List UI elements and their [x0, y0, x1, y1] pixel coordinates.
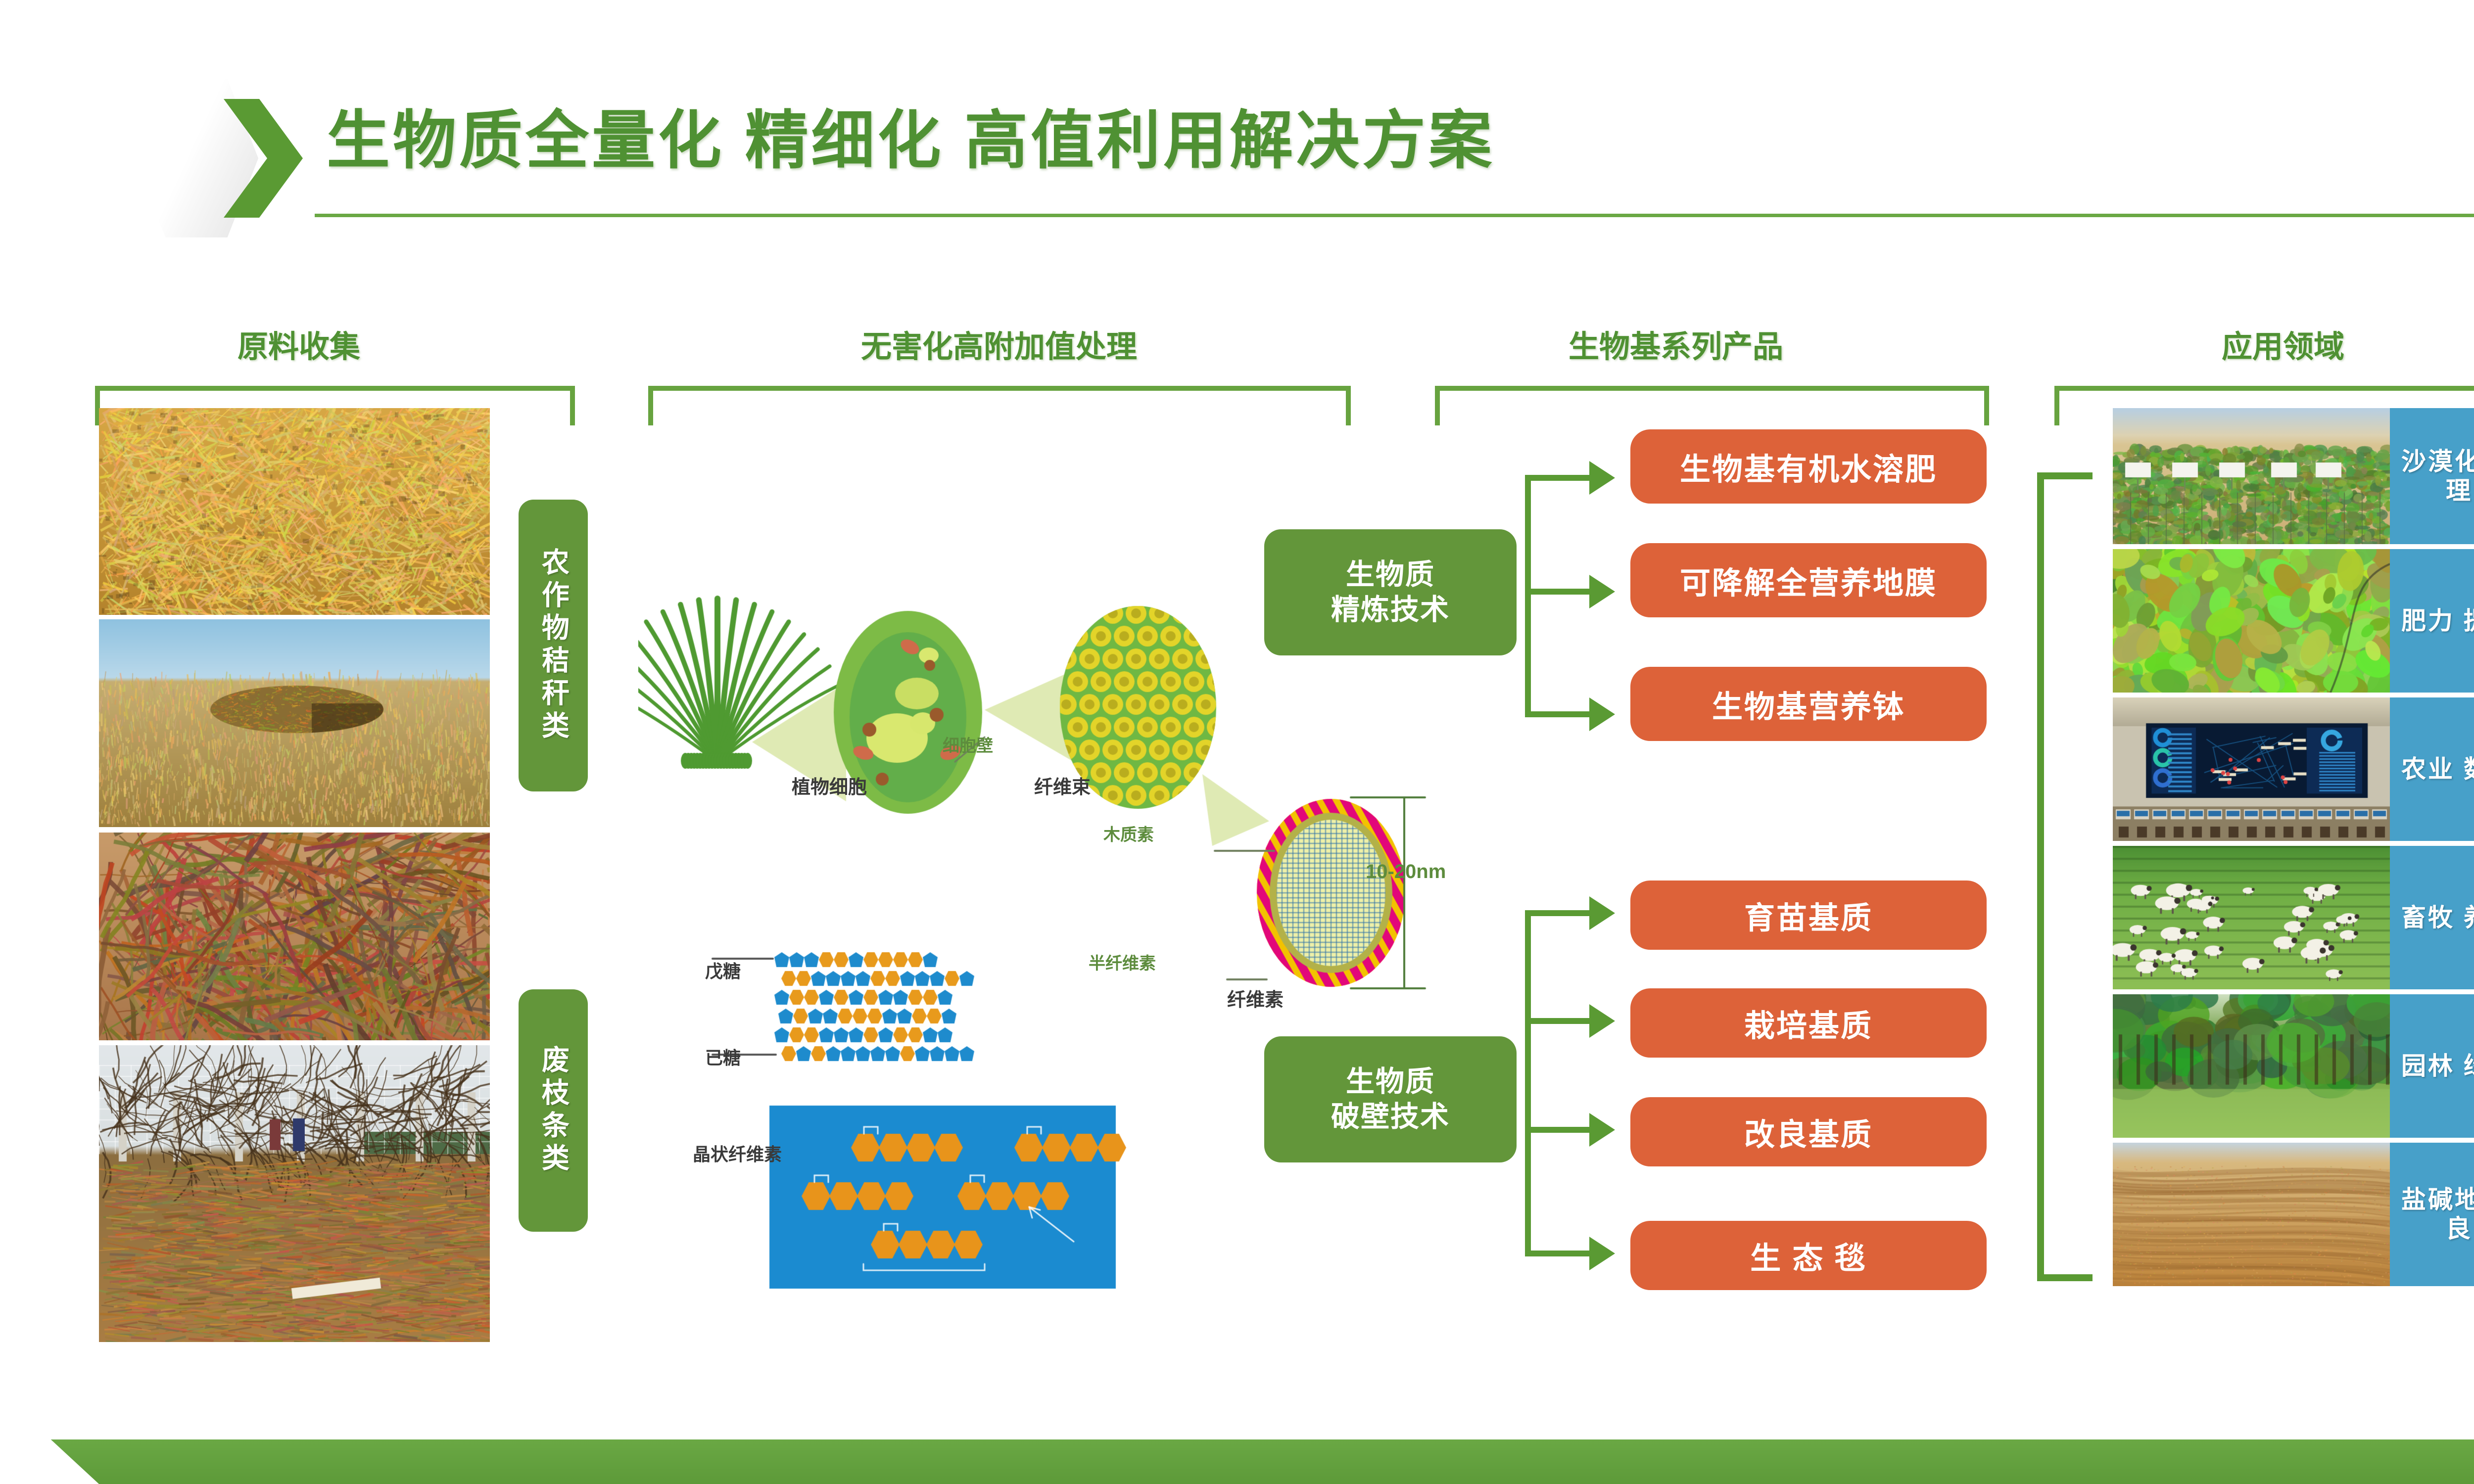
- label-fiber-scale: 10-20nm: [1366, 861, 1446, 883]
- application-label-2: 农业 数据: [2390, 697, 2474, 841]
- bracket-apps-spine: [2037, 472, 2044, 1281]
- arrow-head-refining-3: [1589, 697, 1615, 731]
- connector-refining-b1: [1525, 475, 1589, 481]
- application-photo-data-room: [2113, 697, 2390, 841]
- feedstock-category-waste-branch: 废枝条类: [519, 989, 588, 1232]
- application-photo-greening: [2113, 994, 2390, 1138]
- product-pill-7[interactable]: 生 态 毯: [1630, 1221, 1987, 1290]
- label-cellulose: 纤维素: [1227, 984, 1284, 1012]
- application-photo-cabbage: [2113, 549, 2390, 693]
- arrow-head-cellbreak-2: [1589, 1004, 1615, 1038]
- product-pill-2[interactable]: 可降解全营养地膜: [1630, 543, 1987, 617]
- infographic-root: 生物质全量化 精细化 高值利用解决方案 原料收集 无害化高附加值处理 生物基系列…: [0, 0, 2474, 1484]
- tech-pill-refining[interactable]: 生物质 精炼技术: [1264, 529, 1517, 655]
- application-row-2[interactable]: 农业 数据: [2113, 697, 2474, 841]
- arrow-head-refining-2: [1589, 575, 1615, 608]
- tech-cellbreak-line2: 破壁技术: [1331, 1100, 1450, 1135]
- arrow-head-cellbreak-3: [1589, 1113, 1615, 1147]
- application-row-5[interactable]: 盐碱地 改良: [2113, 1143, 2474, 1286]
- product-pill-3[interactable]: 生物基营养钵: [1630, 667, 1987, 741]
- connector-cellbreak-b1: [1525, 910, 1589, 916]
- bracket-products: [1435, 386, 1989, 425]
- application-row-3[interactable]: 畜牧 养殖: [2113, 846, 2474, 989]
- label-hexose: 已糖: [705, 1044, 741, 1069]
- hexagon-chevron-icon: [135, 79, 303, 237]
- application-row-4[interactable]: 园林 绿化: [2113, 994, 2474, 1138]
- arrow-head-cellbreak-4: [1589, 1237, 1615, 1270]
- feedstock-photo-corn-stalk: [99, 408, 490, 615]
- application-label-0: 沙漠化 治理: [2390, 408, 2474, 544]
- product-pill-1[interactable]: 生物基有机水溶肥: [1630, 429, 1987, 504]
- feedstock-category-label: 废枝条类: [539, 1045, 568, 1176]
- connector-cellbreak-b3: [1525, 1127, 1589, 1133]
- label-fiber-bundle: 纤维束: [1034, 772, 1091, 799]
- product-pill-6[interactable]: 改良基质: [1630, 1097, 1987, 1166]
- tech-refining-line2: 精炼技术: [1331, 593, 1450, 628]
- connector-cellbreak-b2: [1525, 1018, 1589, 1024]
- label-plant-cell: 植物细胞: [792, 772, 867, 799]
- feedstock-photo-straw-bale: [99, 619, 490, 827]
- tech-refining-line1: 生物质: [1331, 557, 1450, 593]
- bracket-apps-top: [2037, 472, 2093, 479]
- application-row-1[interactable]: 肥力 提升: [2113, 549, 2474, 693]
- application-photo-grazing: [2113, 846, 2390, 989]
- bracket-processing: [648, 386, 1351, 425]
- header-rule: [315, 214, 2474, 217]
- connector-refining-b2: [1525, 589, 1589, 595]
- tech-cellbreak-line1: 生物质: [1331, 1065, 1450, 1100]
- feedstock-photo-orchard: [99, 1045, 490, 1342]
- page-title: 生物质全量化 精细化 高值利用解决方案: [327, 89, 1495, 181]
- label-cell-wall: 细胞壁: [943, 732, 993, 756]
- tech-pill-cellbreak[interactable]: 生物质 破壁技术: [1264, 1036, 1517, 1162]
- application-label-3: 畜牧 养殖: [2390, 846, 2474, 989]
- application-label-4: 园林 绿化: [2390, 994, 2474, 1138]
- label-hemicellulose: 半纤维素: [1089, 950, 1156, 974]
- label-lignin: 木质素: [1103, 821, 1154, 845]
- label-crystalline-cellulose: 晶状纤维素: [693, 1140, 782, 1166]
- connector-refining-trunk: [1525, 475, 1531, 717]
- product-pill-4[interactable]: 育苗基质: [1630, 881, 1987, 950]
- connector-refining-b3: [1525, 711, 1589, 717]
- arrow-head-refining-1: [1589, 461, 1615, 495]
- application-photo-desert: [2113, 408, 2390, 544]
- arrow-head-cellbreak-1: [1589, 896, 1615, 930]
- section-header-processing: 无害化高附加值处理: [861, 322, 1137, 366]
- label-pentose: 戊糖: [705, 957, 741, 983]
- application-row-0[interactable]: 沙漠化 治理: [2113, 408, 2474, 544]
- connector-cellbreak-trunk: [1525, 910, 1531, 1256]
- section-header-collection: 原料收集: [238, 322, 360, 366]
- feedstock-photo-branches: [99, 833, 490, 1040]
- application-label-1: 肥力 提升: [2390, 549, 2474, 693]
- feedstock-category-crop-straw: 农作物秸秆类: [519, 500, 588, 791]
- footer-corner-left: [0, 1392, 99, 1484]
- header-corner-left: [0, 0, 99, 74]
- application-photo-saline: [2113, 1143, 2390, 1286]
- page-header: 生物质全量化 精细化 高值利用解决方案: [0, 0, 2474, 257]
- product-pill-5[interactable]: 栽培基质: [1630, 988, 1987, 1058]
- feedstock-category-label: 农作物秸秆类: [539, 548, 568, 743]
- footer-bar: [0, 1439, 2474, 1484]
- section-header-applications: 应用领域: [2222, 322, 2344, 366]
- application-label-5: 盐碱地 改良: [2390, 1143, 2474, 1286]
- bracket-apps-bottom: [2037, 1274, 2093, 1281]
- connector-cellbreak-b4: [1525, 1251, 1589, 1256]
- section-header-products: 生物基系列产品: [1569, 322, 1783, 366]
